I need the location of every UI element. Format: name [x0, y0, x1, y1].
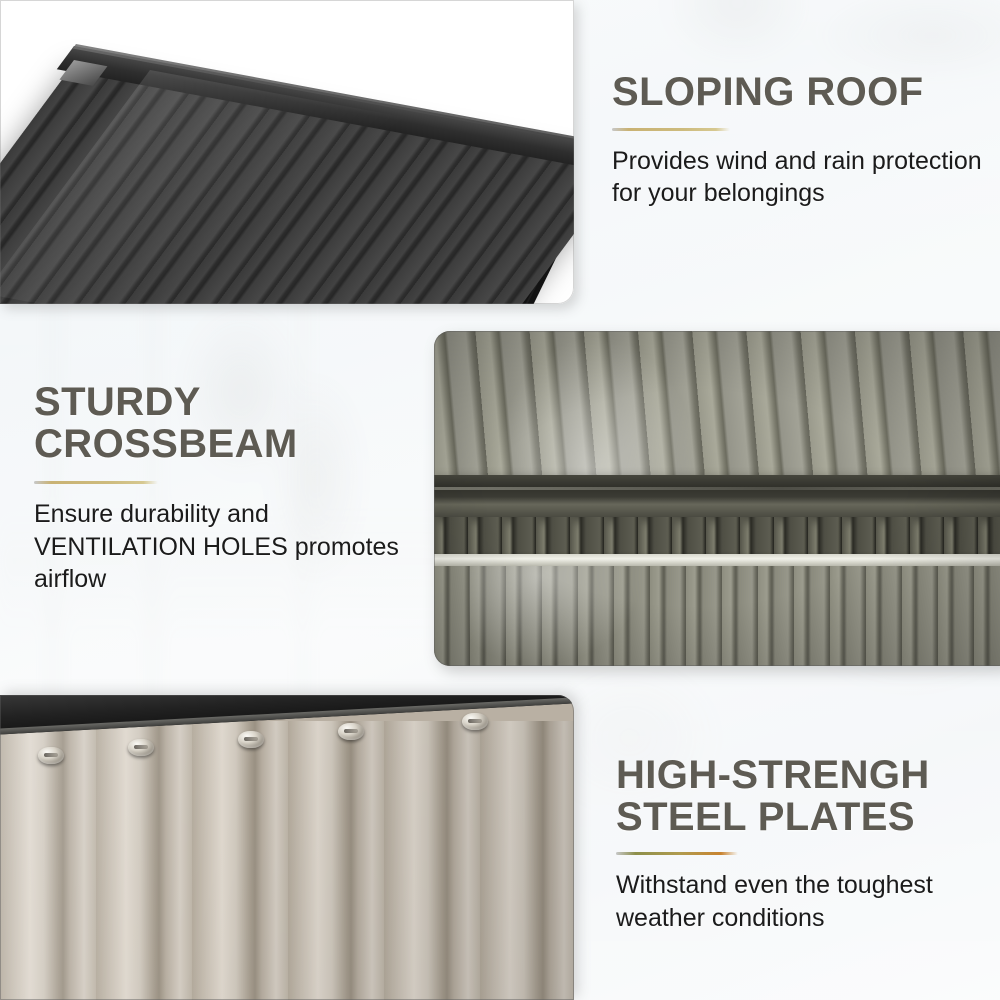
feature-heading-crossbeam-line2: CROSSBEAM	[34, 422, 298, 466]
feature-body-steel-plates: Withstand even the toughest weather cond…	[616, 869, 992, 934]
bolt-icon	[38, 747, 64, 764]
feature-image-steel-plates	[0, 695, 574, 1000]
feature-text-steel-plates: HIGH-STRENGH STEEL PLATES Withstand even…	[616, 755, 992, 934]
feature-text-crossbeam: STURDY CROSSBEAM Ensure durability and V…	[34, 382, 424, 596]
feature-image-crossbeam	[434, 331, 1000, 666]
feature-body-sloping-roof: Provides wind and rain protection for yo…	[612, 145, 982, 210]
feature-divider-sloping-roof	[612, 128, 730, 131]
sloping-roof-photo	[0, 0, 574, 304]
feature-divider-steel-plates	[616, 852, 738, 855]
feature-heading-steel-plates: HIGH-STRENGH STEEL PLATES	[616, 755, 992, 838]
feature-text-sloping-roof: SLOPING ROOF Provides wind and rain prot…	[612, 72, 982, 210]
feature-heading-steel-plates-line1: HIGH-STRENGH	[616, 753, 930, 797]
bolt-icon	[128, 739, 154, 756]
bolt-icon	[462, 713, 488, 730]
steel-plates-photo	[0, 695, 574, 1000]
bolt-icon	[338, 723, 364, 740]
feature-image-sloping-roof	[0, 0, 574, 304]
feature-body-crossbeam: Ensure durability and VENTILATION HOLES …	[34, 498, 424, 596]
feature-divider-crossbeam	[34, 481, 158, 484]
ceiling-vignette	[434, 331, 1000, 666]
crossbeam-photo	[434, 331, 1000, 666]
bolt-icon	[238, 731, 264, 748]
infographic-stage: SLOPING ROOF Provides wind and rain prot…	[0, 0, 1000, 1000]
feature-heading-sloping-roof: SLOPING ROOF	[612, 72, 982, 114]
bolt-row	[0, 695, 574, 815]
feature-heading-crossbeam: STURDY CROSSBEAM	[34, 382, 424, 465]
feature-heading-crossbeam-line1: STURDY	[34, 380, 201, 424]
feature-heading-steel-plates-line2: STEEL PLATES	[616, 795, 915, 839]
